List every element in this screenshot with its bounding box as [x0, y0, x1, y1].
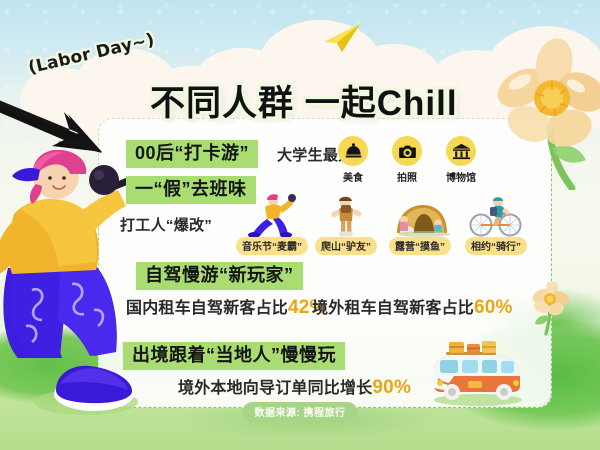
section4-stat-guide: 境外本地向导订单同比增长90% [178, 374, 411, 399]
persona-cycling[interactable]: 相约“骑行” [455, 193, 537, 255]
camping-tent [379, 193, 461, 237]
icon-item-food[interactable]: 美食 [338, 136, 368, 184]
page-title: 不同人群 一起Chill [150, 75, 458, 126]
section4-headline: 出境跟着“当地人”慢慢玩 [123, 342, 345, 370]
icon-label-museum: 博物馆 [446, 169, 476, 184]
stat-label-guide: 境外本地向导订单同比增长 [178, 380, 372, 397]
flower-small-decoration [530, 282, 570, 341]
icon-label-photo: 拍照 [397, 169, 417, 184]
hiker-figure [305, 193, 387, 237]
camera-icon [392, 136, 422, 166]
infographic-poster: (Labor Day~) 不同人群 一起Chill [0, 0, 600, 450]
cyclist-figure [455, 193, 537, 237]
paper-plane-icon [322, 22, 362, 59]
icon-item-photo[interactable]: 拍照 [392, 136, 422, 184]
section1-headline: 00后“打卡游” [126, 140, 258, 168]
stat-value-overseas: 60% [474, 297, 513, 318]
persona-tag-camping: 露营“摸鱼” [389, 237, 451, 255]
persona-tag-cycling: 相约“骑行” [465, 237, 527, 255]
icon-item-museum[interactable]: 博物馆 [446, 136, 476, 184]
cloche-icon [338, 136, 368, 166]
persona-camping[interactable]: 露营“摸鱼” [379, 193, 461, 255]
section3-stat-domestic: 国内租车自驾新客占比42% [126, 294, 327, 319]
icon-label-food: 美食 [343, 169, 363, 184]
flower-large-decoration [476, 30, 600, 195]
persona-tag-music: 音乐节“麦霸” [236, 237, 308, 255]
persona-music-festival[interactable]: 音乐节“麦霸” [231, 193, 313, 255]
singer-figure [231, 193, 313, 237]
stat-value-guide: 90% [372, 377, 411, 398]
stat-label-domestic: 国内租车自驾新客占比 [126, 300, 288, 317]
section3-headline: 自驾慢游“新玩家” [136, 262, 303, 290]
persona-tag-hiking: 爬山“驴友” [315, 237, 377, 255]
section2-caption: 打工人“爆改” [120, 214, 212, 235]
museum-icon [446, 136, 476, 166]
section3-stat-overseas: 境外租车自驾新客占比60% [312, 294, 513, 319]
camper-van-illustration [424, 340, 530, 411]
source-badge: 数据来源: 携程旅行 [242, 402, 357, 422]
stat-label-overseas: 境外租车自驾新客占比 [312, 300, 474, 317]
persona-hiking[interactable]: 爬山“驴友” [305, 193, 387, 255]
activity-icon-set: 美食 拍照 [338, 136, 476, 184]
